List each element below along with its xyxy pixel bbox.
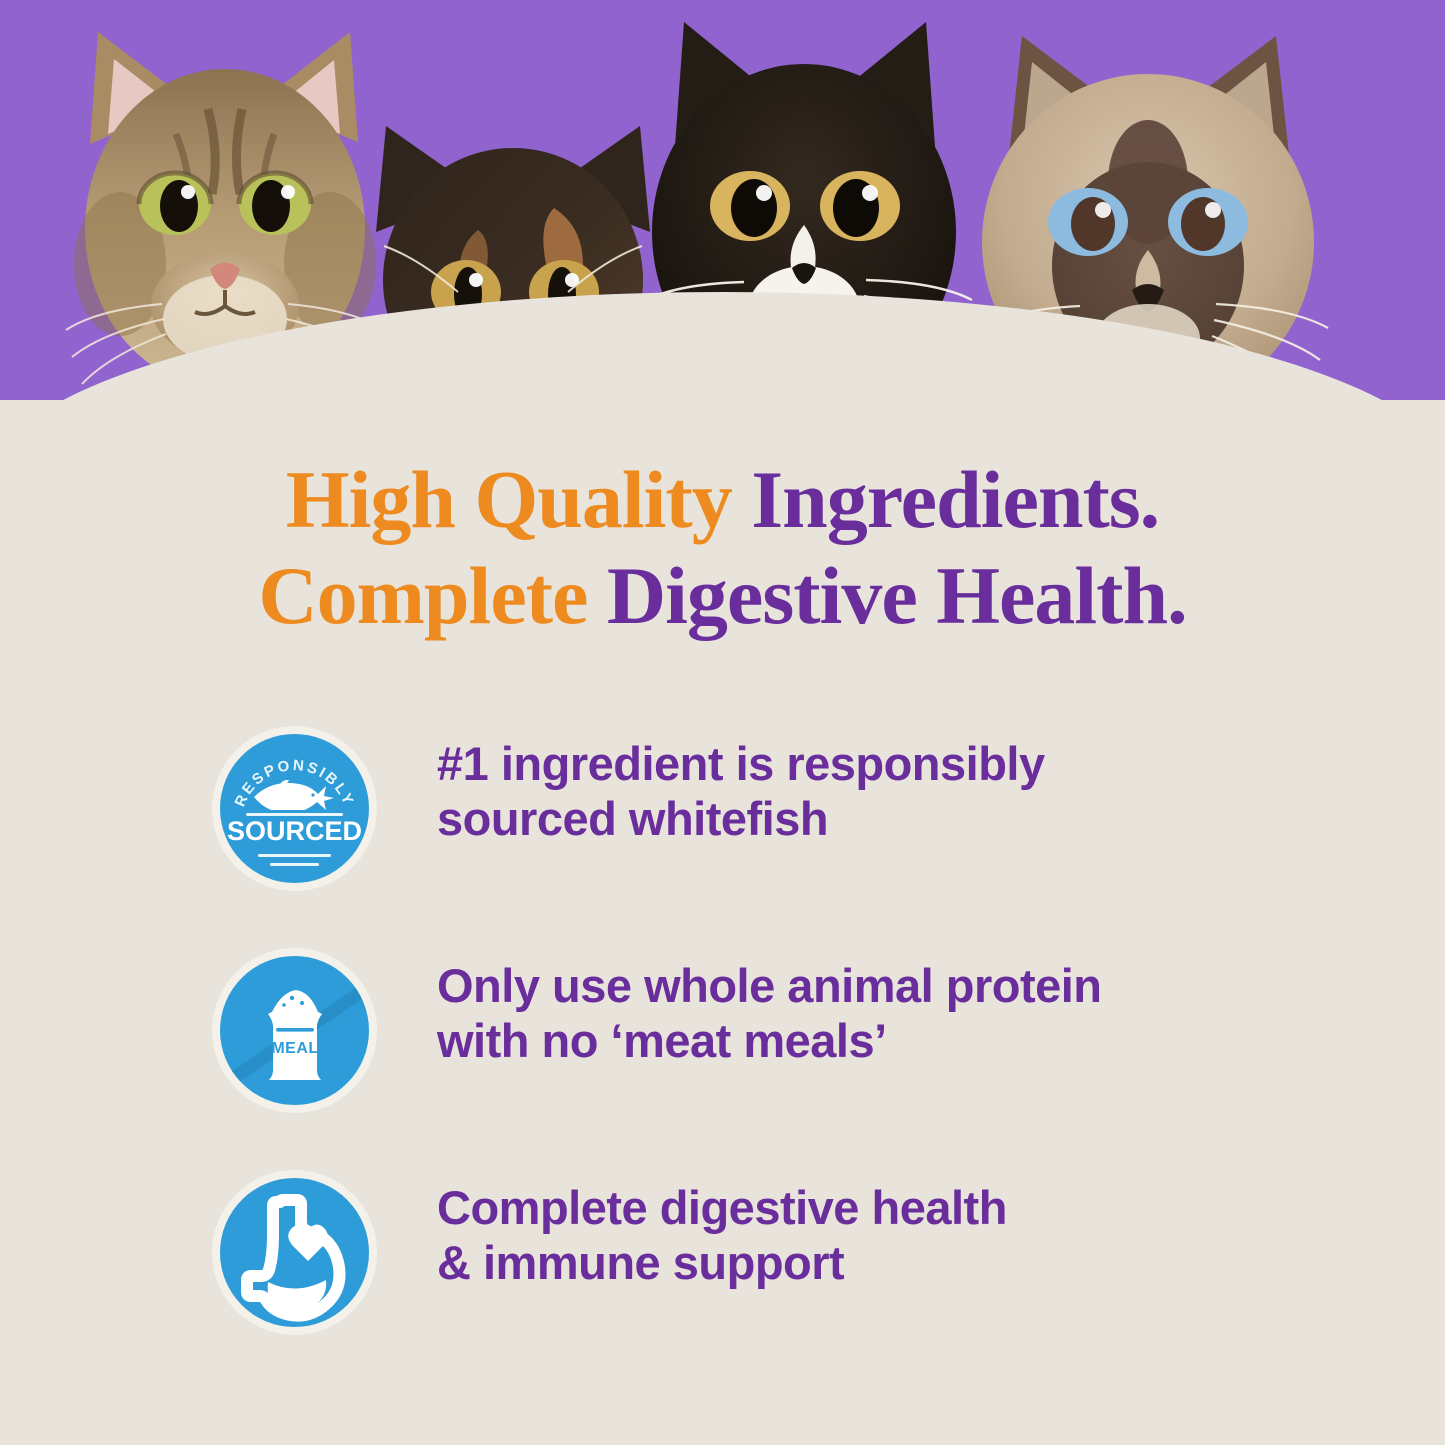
feature-text: Complete digestive health & immune suppo…	[437, 1170, 1312, 1291]
sack-label: MEAL	[260, 1040, 330, 1058]
product-feature-graphic: High Quality Ingredients. Complete Diges…	[0, 0, 1445, 1445]
stomach-icon	[220, 1178, 369, 1327]
feature-text-line-2: & immune support	[437, 1235, 1312, 1290]
feature-text-line-1: #1 ingredient is responsibly	[437, 736, 1312, 791]
cat-photo-banner	[0, 0, 1445, 430]
feature-text: #1 ingredient is responsibly sourced whi…	[437, 726, 1312, 847]
feature-text: Only use whole animal protein with no ‘m…	[437, 948, 1312, 1069]
headline-line-2-orange: Complete	[258, 550, 587, 641]
headline-line-1: High Quality Ingredients.	[0, 452, 1445, 548]
badge-bottom-line-2	[270, 863, 319, 866]
page-title: High Quality Ingredients. Complete Diges…	[0, 452, 1445, 644]
feature-item: MEAL Only use whole animal protein with …	[212, 948, 1312, 1170]
headline-line-1-orange: High Quality	[286, 454, 732, 545]
feature-text-line-2: with no ‘meat meals’	[437, 1013, 1312, 1068]
headline-line-2: Complete Digestive Health.	[0, 548, 1445, 644]
feature-text-line-1: Complete digestive health	[437, 1180, 1312, 1235]
responsibly-sourced-fish-badge-icon: RESPONSIBLY SOURCED	[212, 726, 377, 891]
badge-disc: MEAL	[220, 956, 369, 1105]
badge-bottom-line-1	[258, 854, 331, 857]
feature-item: RESPONSIBLY SOURCED #1 ingre	[212, 726, 1312, 948]
headline-line-1-purple: Ingredients.	[751, 454, 1159, 545]
meal-sack-icon	[260, 984, 330, 1081]
fish-icon	[250, 780, 340, 810]
feature-text-line-2: sourced whitefish	[437, 791, 1312, 846]
feature-item: Complete digestive health & immune suppo…	[212, 1170, 1312, 1392]
feature-text-line-1: Only use whole animal protein	[437, 958, 1312, 1013]
feature-list: RESPONSIBLY SOURCED #1 ingre	[212, 726, 1312, 1392]
headline-line-2-purple: Digestive Health.	[607, 550, 1187, 641]
no-meat-meal-sack-icon: MEAL	[212, 948, 377, 1113]
badge-disc	[220, 1178, 369, 1327]
stomach-heart-digestive-health-icon	[212, 1170, 377, 1335]
badge-disc: RESPONSIBLY SOURCED	[220, 734, 369, 883]
badge-main-label: SOURCED	[220, 816, 369, 847]
